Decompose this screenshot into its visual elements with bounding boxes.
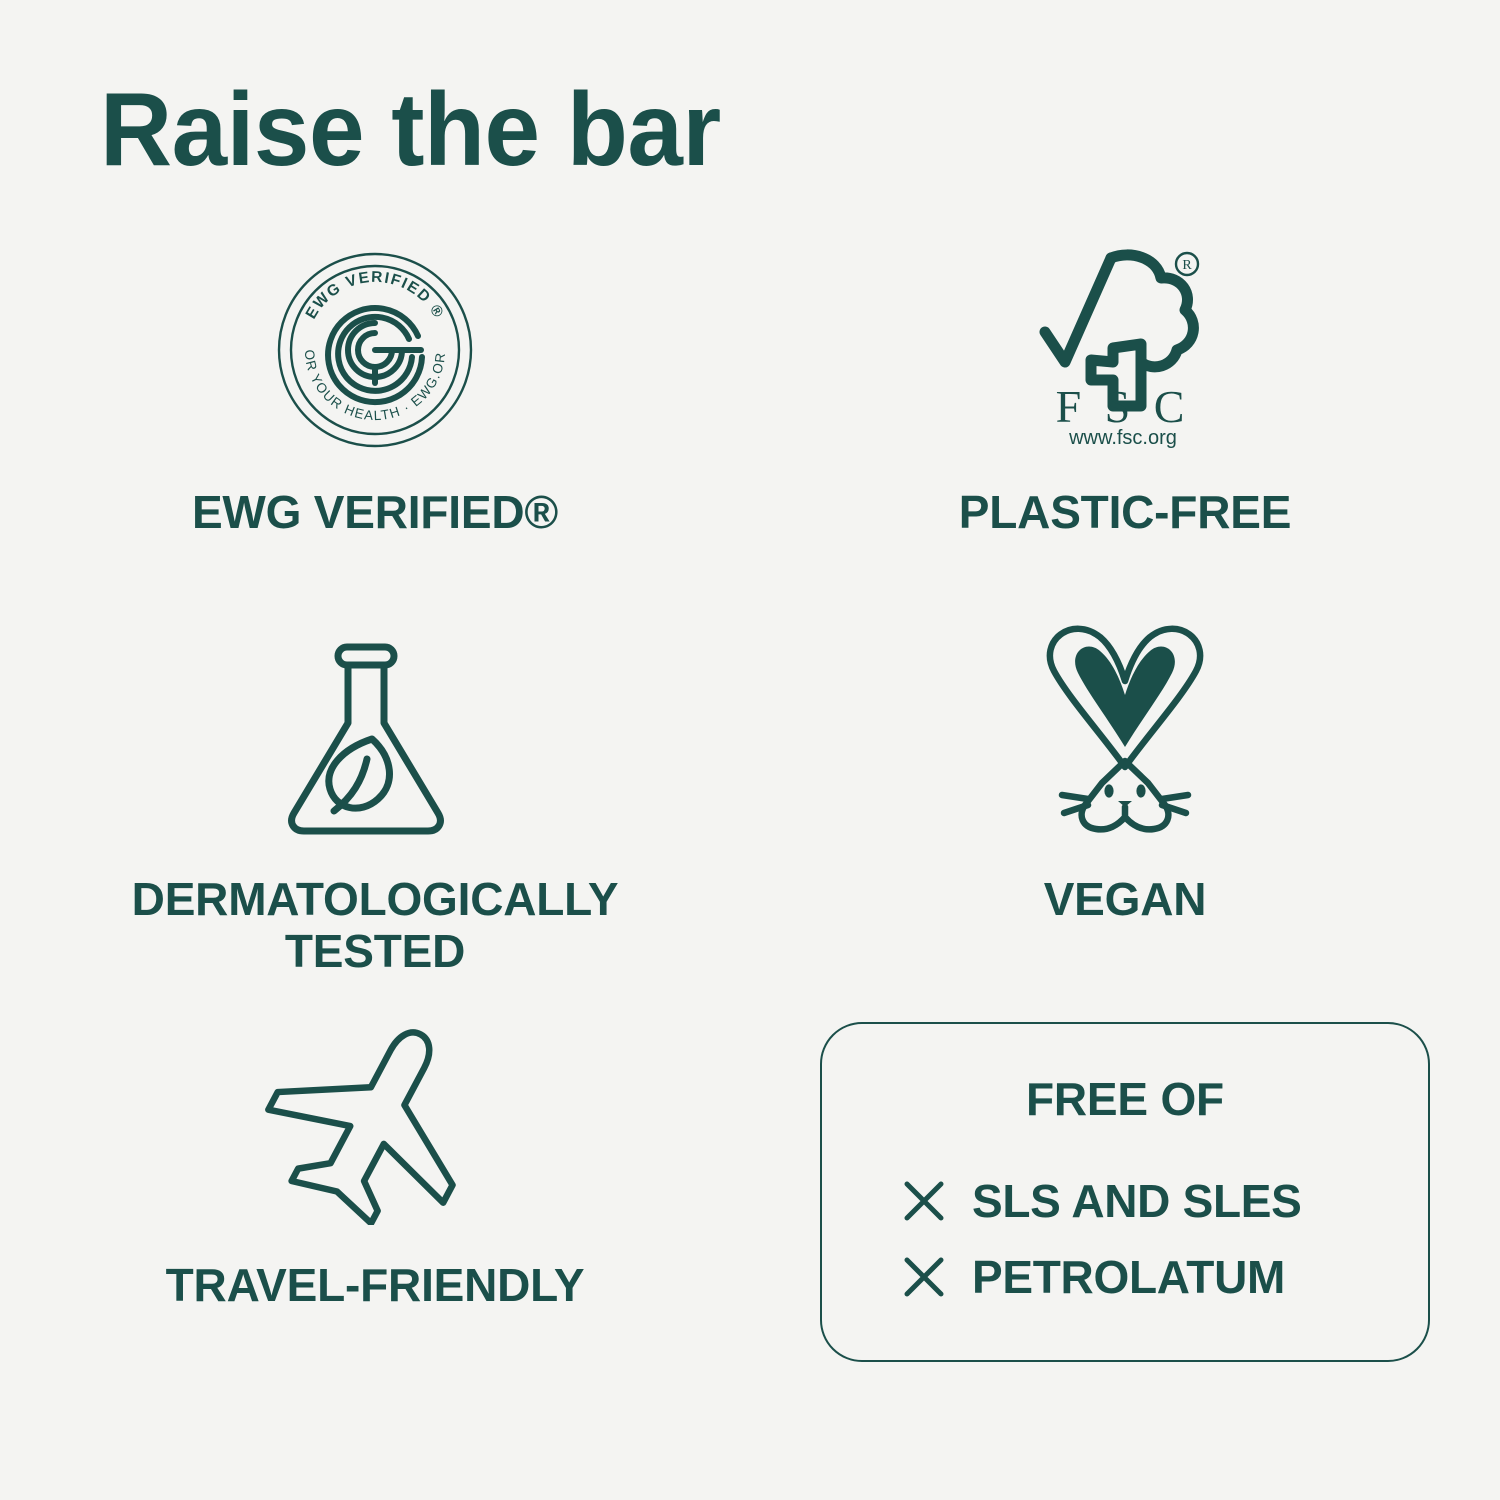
badge-ewg-verified: EWG VERIFIED ® · FOR YOUR HEALTH · EWG.O… <box>0 250 750 620</box>
fsc-acronym: F S C <box>1056 381 1191 432</box>
badge-icon-wrap <box>1030 620 1220 835</box>
x-mark-icon <box>902 1179 946 1223</box>
svg-text:R: R <box>1182 258 1192 273</box>
heart-fill <box>1075 647 1175 747</box>
badge-icon-wrap: EWG VERIFIED ® · FOR YOUR HEALTH · EWG.O… <box>275 250 475 450</box>
flask-with-leaf-icon <box>280 635 470 835</box>
free-of-item: PETROLATUM <box>902 1250 1302 1304</box>
badge-grid: EWG VERIFIED ® · FOR YOUR HEALTH · EWG.O… <box>0 250 1500 1400</box>
badge-dermatologically-tested: DERMATOLOGICALLY TESTED <box>0 620 750 1010</box>
badge-icon-wrap <box>280 620 470 835</box>
eye-left <box>1104 784 1113 797</box>
badge-label-dermatologically-tested: DERMATOLOGICALLY TESTED <box>132 873 619 978</box>
product-claims-infographic: Raise the bar EWG VERIFIED ® <box>0 0 1500 1500</box>
free-of-card-cell: FREE OF SLS AND SLES PETROLATUM <box>750 1010 1500 1400</box>
free-of-item-label: PETROLATUM <box>972 1250 1285 1304</box>
badge-travel-friendly: TRAVEL-FRIENDLY <box>0 1010 750 1400</box>
badge-label-ewg-verified: EWG VERIFIED® <box>192 486 558 538</box>
ewg-verified-seal-icon: EWG VERIFIED ® · FOR YOUR HEALTH · EWG.O… <box>275 250 475 450</box>
free-of-item-label: SLS AND SLES <box>972 1174 1302 1228</box>
airplane-icon <box>260 1015 490 1225</box>
x-mark-icon <box>902 1255 946 1299</box>
fsc-tree-checkmark-icon: R F S C www.fsc.org <box>1035 240 1215 450</box>
badge-icon-wrap: R F S C www.fsc.org <box>1035 250 1215 450</box>
badge-label-vegan: VEGAN <box>1044 873 1207 925</box>
page-title: Raise the bar <box>100 78 721 182</box>
free-of-item: SLS AND SLES <box>902 1174 1302 1228</box>
fsc-url: www.fsc.org <box>1068 427 1177 449</box>
badge-vegan: VEGAN <box>750 620 1500 1010</box>
badge-label-plastic-free: PLASTIC-FREE <box>959 486 1291 538</box>
eye-right <box>1136 784 1145 797</box>
free-of-list: SLS AND SLES PETROLATUM <box>902 1174 1302 1304</box>
free-of-card: FREE OF SLS AND SLES PETROLATUM <box>820 1022 1430 1362</box>
badge-icon-wrap <box>260 1010 490 1225</box>
registered-mark-icon: R <box>1176 253 1198 275</box>
free-of-title: FREE OF <box>1026 1072 1224 1126</box>
rabbit-with-heart-ears-icon <box>1030 615 1220 835</box>
badge-plastic-free: R F S C www.fsc.org PLASTIC-FREE <box>750 250 1500 620</box>
badge-label-travel-friendly: TRAVEL-FRIENDLY <box>166 1259 585 1311</box>
